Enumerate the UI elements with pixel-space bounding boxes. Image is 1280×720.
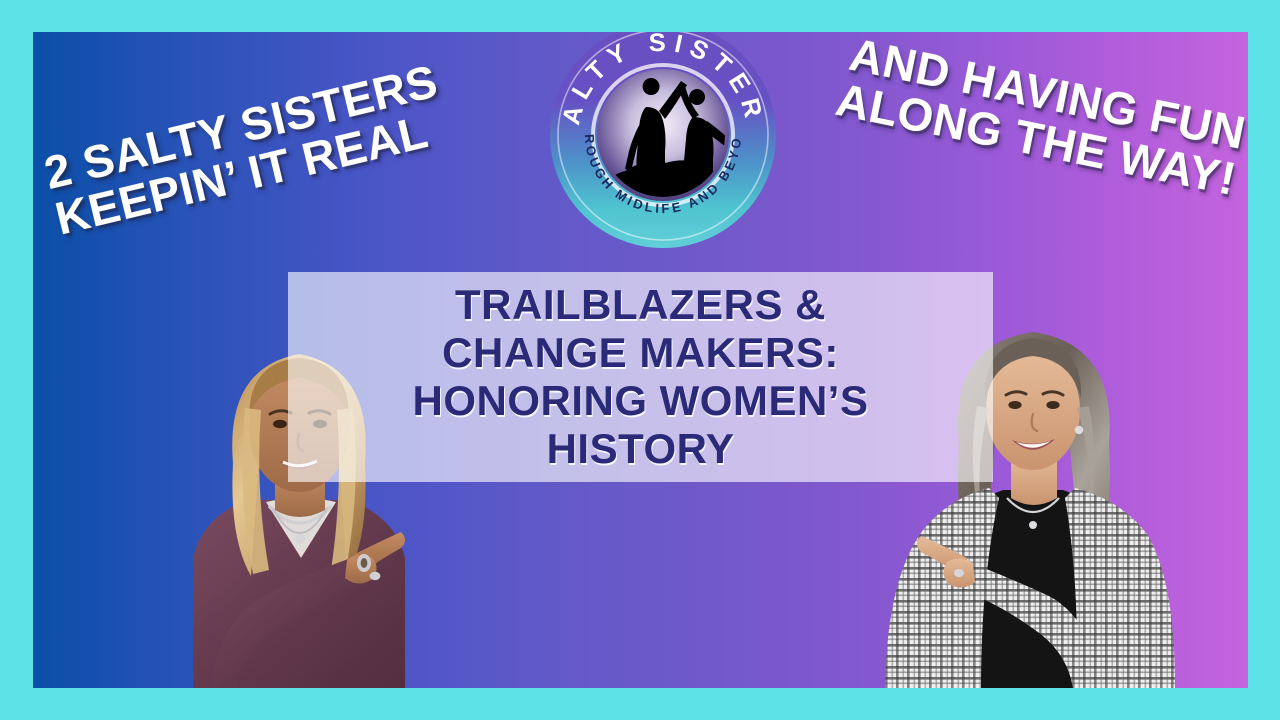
gradient-stage: SALTY SISTERS THROUGH MIDLIFE AND BEYOND…	[33, 32, 1248, 688]
salty-sisters-logo: SALTY SISTERS THROUGH MIDLIFE AND BEYOND	[547, 32, 779, 251]
tagline-right: AND HAVING FUN ALONG THE WAY!	[741, 32, 1248, 203]
logo-arc-bottom-text: THROUGH MIDLIFE AND BEYOND	[547, 32, 744, 216]
thumbnail-canvas: SALTY SISTERS THROUGH MIDLIFE AND BEYOND…	[0, 0, 1280, 720]
high-five-silhouette	[593, 78, 737, 201]
logo-arc-top-text: SALTY SISTERS	[547, 32, 769, 128]
title-panel-background	[288, 272, 993, 482]
tagline-left: 2 SALTY SISTERS KEEPIN’ IT REAL	[40, 32, 568, 243]
